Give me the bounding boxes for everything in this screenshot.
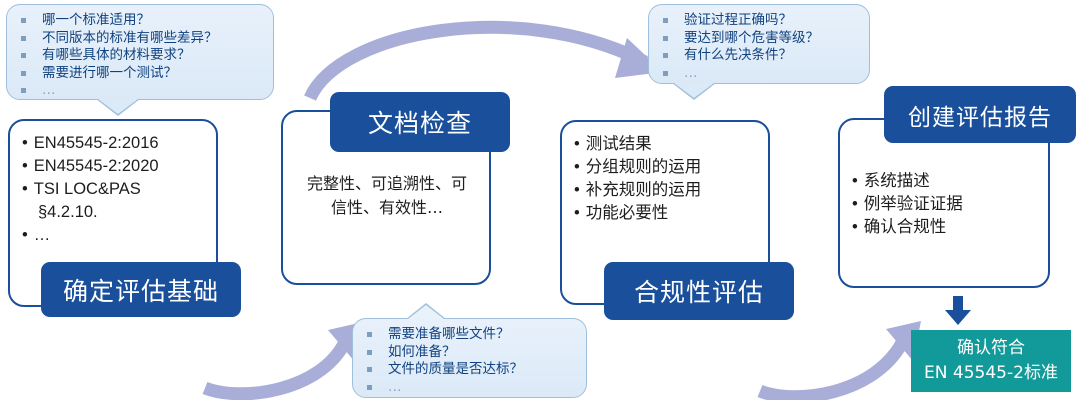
bullet-dot: •: [574, 156, 580, 179]
list-item-label: EN45545-2:2020: [34, 155, 159, 178]
list-item: 有什么先决条件？: [659, 47, 859, 65]
question-text: …: [684, 65, 700, 83]
square-bullet-icon: [21, 71, 26, 76]
list-item-label: 补充规则的运用: [586, 179, 702, 202]
list-item: •例举验证证据: [852, 193, 1052, 216]
bullet-dot: •: [852, 216, 858, 239]
callout-questions-conformity-assessment: 验证过程正确吗？ 要达到哪个危害等级？ 有什么先决条件？ …: [648, 4, 870, 84]
callout-question-list: 验证过程正确吗？ 要达到哪个危害等级？ 有什么先决条件？ …: [659, 12, 859, 82]
callout-tail-document-check-inner: [408, 305, 444, 319]
bullet-dot: •: [22, 155, 28, 178]
list-item: 要达到哪个危害等级？: [659, 30, 859, 48]
square-bullet-icon: [21, 88, 26, 93]
panel-document-check-body: 完整性、可追溯性、可 信性、有效性…: [287, 172, 487, 220]
square-bullet-icon: [367, 367, 372, 372]
bullet-dot: •: [574, 202, 580, 225]
list-item-label: 例举验证证据: [864, 193, 963, 216]
list-item-continuation: §4.2.10.: [22, 201, 217, 224]
list-item: •测试结果: [574, 133, 769, 156]
callout-tail-conformity-assessment-inner: [674, 83, 714, 98]
stage-label-assessment-basis[interactable]: 确定评估基础: [41, 262, 241, 317]
bullet-dot: •: [22, 224, 28, 247]
list-item: •补充规则的运用: [574, 179, 769, 202]
question-text: 文件的质量是否达标？: [388, 361, 523, 379]
down-arrow-icon: [944, 296, 972, 326]
square-bullet-icon: [367, 350, 372, 355]
list-item: •EN45545-2:2016: [22, 132, 217, 155]
list-item: •确认合规性: [852, 216, 1052, 239]
question-text: 需要准备哪些文件？: [388, 326, 510, 344]
stage-label-conformity-assessment[interactable]: 合规性评估: [604, 262, 794, 320]
list-item: …: [363, 379, 576, 397]
bullet-dot: •: [22, 178, 28, 201]
question-text: 有什么先决条件？: [684, 47, 792, 65]
square-bullet-icon: [21, 18, 26, 23]
bullet-dot: •: [852, 170, 858, 193]
list-item-label: 分组规则的运用: [586, 156, 702, 179]
question-text: …: [388, 379, 404, 397]
panel-assessment-basis-body: •EN45545-2:2016 •EN45545-2:2020 •TSI LOC…: [22, 132, 217, 247]
question-text: 如何准备？: [388, 344, 456, 362]
stage-label-text: 确定评估基础: [63, 272, 219, 308]
square-bullet-icon: [663, 18, 668, 23]
panel-conformity-assessment-body: •测试结果 •分组规则的运用 •补充规则的运用 •功能必要性: [574, 133, 769, 225]
flow-diagram: •EN45545-2:2016 •EN45545-2:2020 •TSI LOC…: [0, 0, 1080, 400]
square-bullet-icon: [367, 385, 372, 390]
stage-label-document-check[interactable]: 文档检查: [330, 92, 510, 152]
list-item: 验证过程正确吗？: [659, 12, 859, 30]
document-check-line-2: 信性、有效性…: [287, 196, 487, 220]
list-item-label: 功能必要性: [586, 202, 669, 225]
list-item: •…: [22, 224, 217, 247]
list-item: •EN45545-2:2020: [22, 155, 217, 178]
list-item-label: TSI LOC&PAS: [34, 178, 141, 201]
list-item: •功能必要性: [574, 202, 769, 225]
list-item: •系统描述: [852, 170, 1052, 193]
stage-label-create-assessment-report[interactable]: 创建评估报告: [884, 86, 1076, 143]
callout-tail-assessment-basis-inner: [98, 99, 138, 114]
list-item-label: …: [34, 224, 51, 247]
question-text: …: [42, 82, 58, 100]
document-check-line-1: 完整性、可追溯性、可: [287, 172, 487, 196]
stage-label-text: 合规性评估: [634, 273, 764, 309]
conformity-assessment-bullet-list: •测试结果 •分组规则的运用 •补充规则的运用 •功能必要性: [574, 133, 769, 225]
callout-question-list: 哪一个标准适用？ 不同版本的标准有哪些差异？ 有哪些具体的材料要求？ 需要进行哪…: [17, 12, 263, 100]
stage-label-text: 创建评估报告: [908, 98, 1052, 132]
list-item: 不同版本的标准有哪些差异？: [17, 30, 263, 48]
list-item: 需要进行哪一个测试？: [17, 65, 263, 83]
bullet-dot: •: [574, 179, 580, 202]
square-bullet-icon: [21, 36, 26, 41]
square-bullet-icon: [367, 332, 372, 337]
list-item-label: 测试结果: [586, 133, 652, 156]
question-text: 需要进行哪一个测试？: [42, 65, 177, 83]
question-text: 哪一个标准适用？: [42, 12, 150, 30]
panel-create-assessment-report-body: •系统描述 •例举验证证据 •确认合规性: [852, 170, 1052, 239]
bullet-dot: •: [574, 133, 580, 156]
callout-questions-assessment-basis: 哪一个标准适用？ 不同版本的标准有哪些差异？ 有哪些具体的材料要求？ 需要进行哪…: [6, 4, 274, 100]
assessment-basis-bullet-list: •EN45545-2:2016 •EN45545-2:2020 •TSI LOC…: [22, 132, 217, 247]
square-bullet-icon: [663, 36, 668, 41]
list-item: 需要准备哪些文件？: [363, 326, 576, 344]
result-line-1: 确认符合: [957, 336, 1025, 361]
callout-question-list: 需要准备哪些文件？ 如何准备？ 文件的质量是否达标？ …: [363, 326, 576, 396]
list-item: 文件的质量是否达标？: [363, 361, 576, 379]
bullet-dot: •: [852, 193, 858, 216]
stage-label-text: 文档检查: [368, 104, 472, 140]
list-item-label: 系统描述: [864, 170, 930, 193]
list-item: …: [659, 65, 859, 83]
list-item-label: 确认合规性: [864, 216, 947, 239]
list-item: 哪一个标准适用？: [17, 12, 263, 30]
question-text: 有哪些具体的材料要求？: [42, 47, 191, 65]
list-item-label: §4.2.10.: [38, 201, 98, 224]
question-text: 不同版本的标准有哪些差异？: [42, 30, 218, 48]
square-bullet-icon: [663, 53, 668, 58]
list-item: 如何准备？: [363, 344, 576, 362]
question-text: 验证过程正确吗？: [684, 12, 792, 30]
list-item: •TSI LOC&PAS: [22, 178, 217, 201]
square-bullet-icon: [21, 53, 26, 58]
list-item: …: [17, 82, 263, 100]
result-box-conformity-confirmed: 确认符合 EN 45545-2标准: [911, 330, 1071, 392]
list-item: •分组规则的运用: [574, 156, 769, 179]
result-line-2: EN 45545-2标准: [924, 361, 1058, 386]
bullet-dot: •: [22, 132, 28, 155]
list-item-label: EN45545-2:2016: [34, 132, 159, 155]
create-report-bullet-list: •系统描述 •例举验证证据 •确认合规性: [852, 170, 1052, 239]
question-text: 要达到哪个危害等级？: [684, 30, 819, 48]
list-item: 有哪些具体的材料要求？: [17, 47, 263, 65]
square-bullet-icon: [663, 71, 668, 76]
callout-questions-document-check: 需要准备哪些文件？ 如何准备？ 文件的质量是否达标？ …: [352, 318, 587, 398]
